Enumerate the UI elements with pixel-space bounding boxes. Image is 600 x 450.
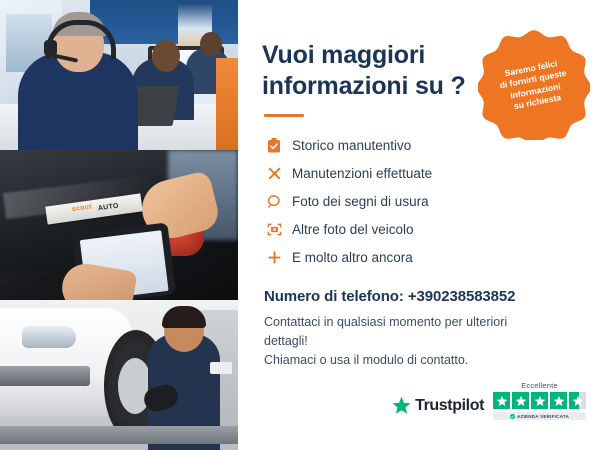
background-colleague-one-head [152, 40, 180, 72]
photo-scan-icon [262, 222, 286, 237]
list-item: Manutenzioni effettuate [262, 161, 600, 186]
star-5-partial [569, 392, 586, 409]
star-4 [550, 392, 567, 409]
contact-note-line-2: Chiamaci o usa il modulo di contatto. [264, 353, 468, 367]
car-headlight [22, 326, 76, 348]
sticker-brand-accent: scout [71, 203, 92, 213]
list-item-label: Manutenzioni effettuate [286, 166, 432, 181]
rating-label: Eccellente [521, 381, 558, 390]
call-center-photo [0, 0, 238, 150]
lift-platform [0, 426, 238, 444]
feature-list: Storico manutentivo Manutenzioni effettu… [262, 133, 600, 270]
title-divider [264, 114, 304, 117]
verified-check-icon [510, 414, 515, 419]
list-item-label: E molto altro ancora [286, 250, 413, 265]
list-item: E molto altro ancora [262, 245, 600, 270]
car-front-grill [0, 366, 90, 386]
star-2 [512, 392, 529, 409]
list-item: Altre foto del veicolo [262, 217, 600, 242]
star-3 [531, 392, 548, 409]
car-inspection-photo: AUTOscout [0, 150, 238, 300]
content-panel: Vuoi maggiori informazioni su ? Storico … [238, 0, 600, 450]
clipboard-check-icon [262, 138, 286, 153]
callout-badge: Saremo felici di fornirti queste informa… [478, 28, 590, 140]
orange-equipment [216, 58, 238, 150]
contact-note-line-1: Contattaci in qualsiasi momento per ulte… [264, 315, 507, 348]
list-item: Foto dei segni di usura [262, 189, 600, 214]
workshop-photo [0, 300, 238, 450]
trustpilot-star-icon [392, 396, 411, 415]
verified-label: AZIENDA VERIFICATA [517, 414, 569, 419]
promo-banner: AUTOscout Vuoi maggiori informazioni su … [0, 0, 600, 450]
magnifier-icon [262, 194, 286, 209]
trustpilot-widget[interactable]: Trustpilot Eccellente AZIENDA VERIFICATA [392, 381, 586, 420]
wrench-cross-icon [262, 166, 286, 181]
list-item-label: Altre foto del veicolo [286, 222, 414, 237]
list-item-label: Storico manutentivo [286, 138, 411, 153]
phone-number[interactable]: Numero di telefono: +390238583852 [264, 288, 600, 305]
list-item-label: Foto dei segni di usura [286, 194, 429, 209]
contact-note: Contattaci in qualsiasi momento per ulte… [264, 313, 524, 369]
photo-column: AUTOscout [0, 0, 238, 450]
plus-icon [262, 250, 286, 265]
trustpilot-logo: Trustpilot [392, 396, 484, 420]
verified-badge: AZIENDA VERIFICATA [493, 412, 586, 420]
background-colleague-two-head [200, 32, 222, 56]
sticker-brand-dark: AUTO [98, 203, 120, 213]
uniform-patch [210, 362, 232, 374]
trustpilot-wordmark: Trustpilot [415, 397, 484, 415]
star-rating [493, 392, 586, 409]
star-1 [493, 392, 510, 409]
trustpilot-rating: Eccellente AZIENDA VERIFICATA [493, 381, 586, 420]
page-title: Vuoi maggiori informazioni su ? [262, 0, 482, 101]
